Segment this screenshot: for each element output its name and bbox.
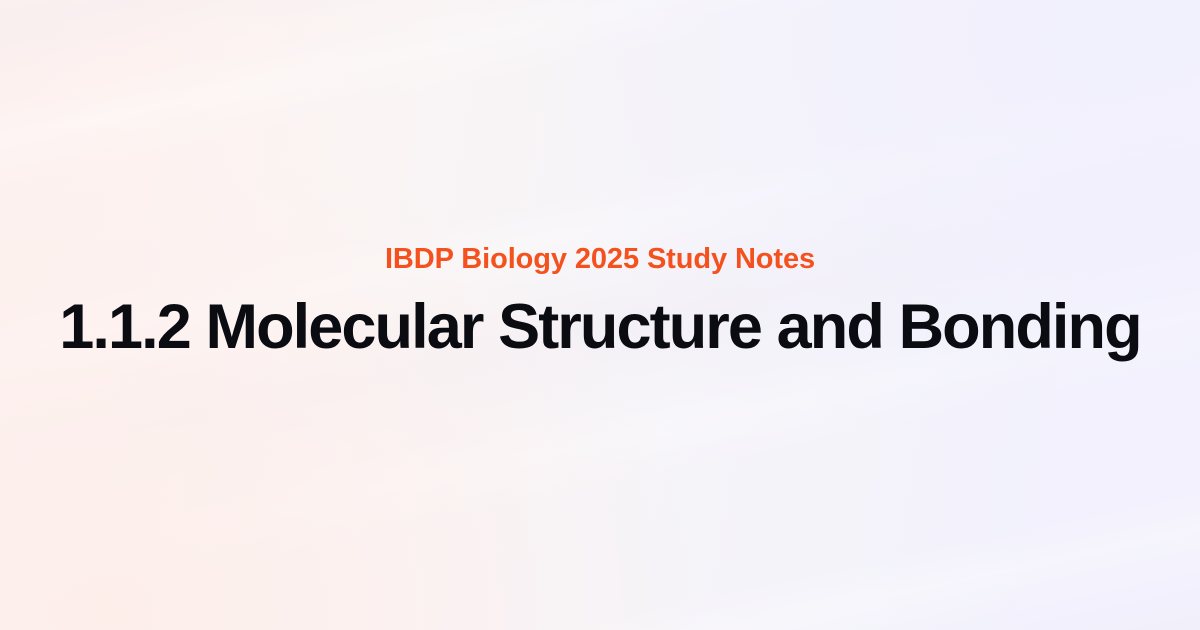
card-eyebrow: IBDP Biology 2025 Study Notes [48,244,1152,276]
share-card: IBDP Biology 2025 Study Notes 1.1.2 Mole… [0,0,1200,630]
card-text-block: IBDP Biology 2025 Study Notes 1.1.2 Mole… [0,244,1200,362]
page-title: 1.1.2 Molecular Structure and Bonding [48,292,1152,363]
